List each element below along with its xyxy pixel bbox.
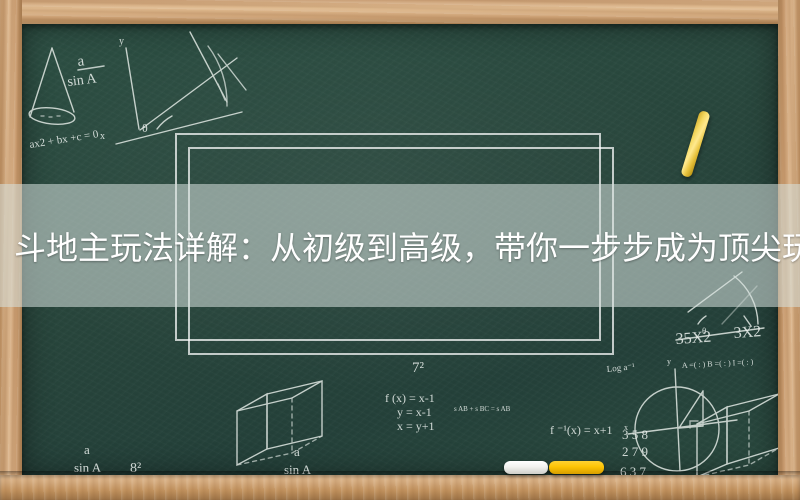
chalk-text-abbcac: s AB + s BC = s AB (454, 405, 511, 413)
chalk-text-sum-row2: 2 7 9 (622, 444, 648, 459)
yellow-chalk-icon (549, 461, 604, 474)
wooden-frame-top (0, 0, 800, 24)
page-title: 斗地主玩法详解：从初级到高级，带你一步步成为顶尖玩家! (0, 184, 800, 307)
chalk-text-theta-2: θ (702, 326, 706, 336)
chalk-text-x-label-2: x (624, 423, 628, 432)
chalk-text-35x2: 35X2 (675, 329, 712, 348)
chalk-text-sina: sin A (67, 71, 99, 90)
cone-drawing (28, 48, 75, 126)
chalk-text-a2: a (84, 442, 90, 457)
chalk-text-y-label-2: y (667, 357, 671, 366)
chalk-text-fx: f (x) = x-1 (385, 391, 435, 405)
chalk-text-x-label-1: x (100, 131, 105, 142)
chalk-text-3x2: 3X2 (733, 323, 762, 342)
yellow-chalk-stick-icon (680, 110, 710, 178)
chalk-text-a3: a (294, 444, 300, 459)
chalk-text-sum-row1: 3 5 8 (622, 427, 648, 442)
cube-drawing-center (237, 381, 322, 465)
chalk-text-quadratic: ax2 + bx +c = 0 (29, 128, 100, 151)
frac-a-sin-a-topleft (78, 66, 104, 70)
circle-axes-drawing (628, 369, 737, 471)
chalk-text-matrices: A =( : ) B =( : ) I =( : ) (682, 357, 754, 370)
chalk-text-x-eq: x = y+1 (397, 419, 435, 433)
chalk-text-theta-1: θ (142, 121, 148, 135)
angle-axes-topleft (116, 32, 246, 144)
chalk-ledge (0, 475, 800, 500)
chalk-text-a: a (77, 53, 86, 70)
chalk-text-y-eq: y = x-1 (397, 405, 432, 419)
chalk-text-log-a: Log a⁻¹ (606, 361, 635, 374)
chalk-text-7sq: 7² (412, 360, 425, 376)
cube-drawing-right (697, 394, 778, 475)
chalkboard-banner: a sin A ax2 + bx +c = 0 y x θ θ 35X2 3X2… (0, 0, 800, 500)
white-chalk-icon (504, 461, 548, 474)
chalk-text-y-label-1: y (119, 36, 124, 47)
chalk-text-inverse-fn: f ⁻¹(x) = x+1 (550, 423, 612, 437)
